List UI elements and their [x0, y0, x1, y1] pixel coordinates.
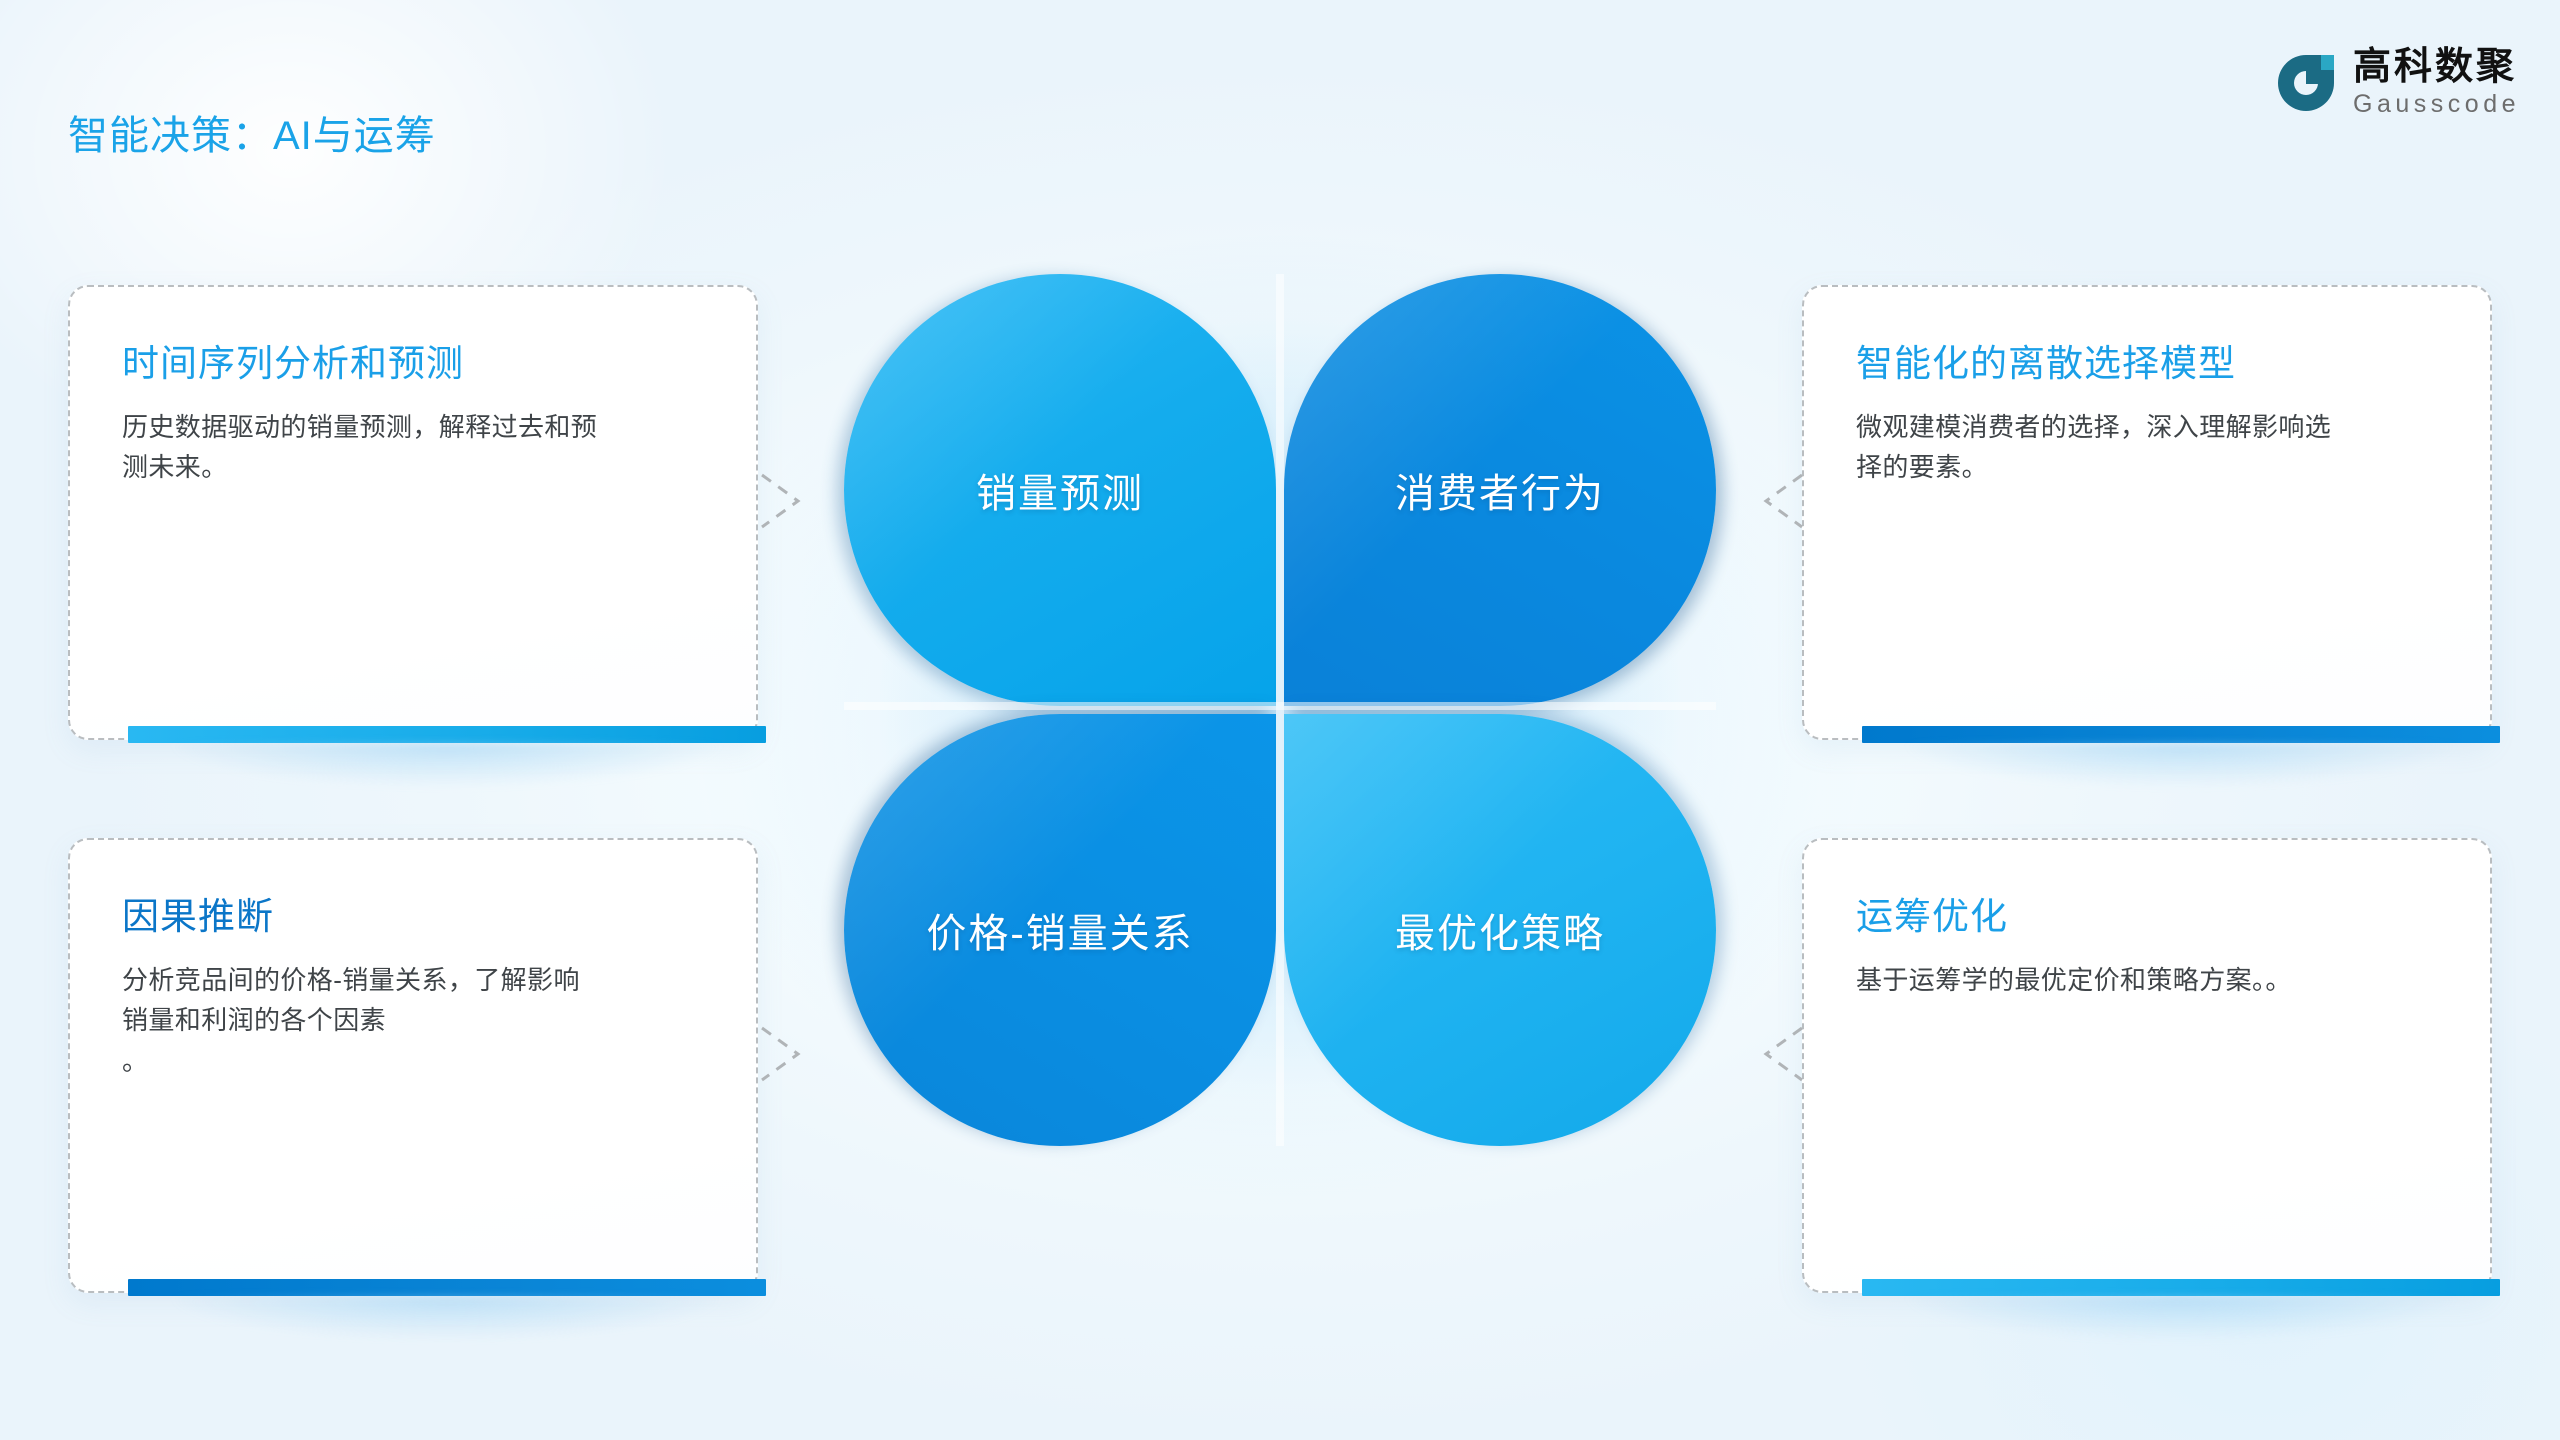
clover-seam-horizontal: [844, 702, 1716, 710]
card-title: 运筹优化: [1856, 886, 2438, 940]
brand-wordmark: 高科数聚 Gausscode: [2353, 48, 2520, 117]
card-accent-bar: [128, 1279, 766, 1296]
card-causal-inference[interactable]: 因果推断 分析竞品间的价格-销量关系，了解影响 销量和利润的各个因素 。: [68, 838, 758, 1293]
card-accent-bar: [128, 726, 766, 743]
card-content: 时间序列分析和预测 历史数据驱动的销量预测，解释过去和预 测未来。: [70, 287, 756, 738]
card-content: 智能化的离散选择模型 微观建模消费者的选择，深入理解影响选 择的要素。: [1804, 287, 2490, 738]
petal-label: 最优化策略: [1395, 901, 1605, 959]
center-clover-diagram: 销量预测 消费者行为 价格-销量关系 最优化策略: [840, 266, 1720, 1146]
card-body: 历史数据驱动的销量预测，解释过去和预 测未来。: [122, 407, 704, 488]
brand-name-en: Gausscode: [2353, 92, 2520, 117]
chevron-right-icon: [758, 459, 810, 543]
petal-price-sales-relation[interactable]: 价格-销量关系: [844, 714, 1276, 1146]
card-body: 微观建模消费者的选择，深入理解影响选 择的要素。: [1856, 407, 2438, 488]
slide-canvas: 智能决策：AI与运筹 高科数聚 Gausscode 时间序列分析和预测 历史数据…: [0, 0, 2560, 1440]
petal-label: 消费者行为: [1395, 461, 1605, 519]
petal-label: 价格-销量关系: [926, 901, 1193, 959]
card-title: 因果推断: [122, 886, 704, 940]
card-content: 因果推断 分析竞品间的价格-销量关系，了解影响 销量和利润的各个因素 。: [70, 840, 756, 1291]
card-title: 智能化的离散选择模型: [1856, 333, 2438, 387]
brand-logo: 高科数聚 Gausscode: [2275, 48, 2520, 117]
card-operations-research[interactable]: 运筹优化 基于运筹学的最优定价和策略方案。。: [1802, 838, 2492, 1293]
page-title: 智能决策：AI与运筹: [68, 103, 436, 161]
clover-seam-vertical: [1276, 274, 1284, 1146]
brand-name-cn: 高科数聚: [2353, 48, 2520, 86]
petal-consumer-behavior[interactable]: 消费者行为: [1284, 274, 1716, 706]
card-body: 分析竞品间的价格-销量关系，了解影响 销量和利润的各个因素 。: [122, 960, 704, 1081]
card-accent-bar: [1862, 726, 2500, 743]
card-accent-bar: [1862, 1279, 2500, 1296]
chevron-left-icon: [1754, 459, 1806, 543]
petal-sales-forecast[interactable]: 销量预测: [844, 274, 1276, 706]
card-body: 基于运筹学的最优定价和策略方案。。: [1856, 960, 2438, 1000]
petal-label: 销量预测: [976, 461, 1144, 519]
petal-optimal-strategy[interactable]: 最优化策略: [1284, 714, 1716, 1146]
card-content: 运筹优化 基于运筹学的最优定价和策略方案。。: [1804, 840, 2490, 1291]
chevron-left-icon: [1754, 1012, 1806, 1096]
chevron-right-icon: [758, 1012, 810, 1096]
card-time-series[interactable]: 时间序列分析和预测 历史数据驱动的销量预测，解释过去和预 测未来。: [68, 285, 758, 740]
gausscode-logo-icon: [2275, 52, 2337, 114]
card-discrete-choice[interactable]: 智能化的离散选择模型 微观建模消费者的选择，深入理解影响选 择的要素。: [1802, 285, 2492, 740]
card-title: 时间序列分析和预测: [122, 333, 704, 387]
